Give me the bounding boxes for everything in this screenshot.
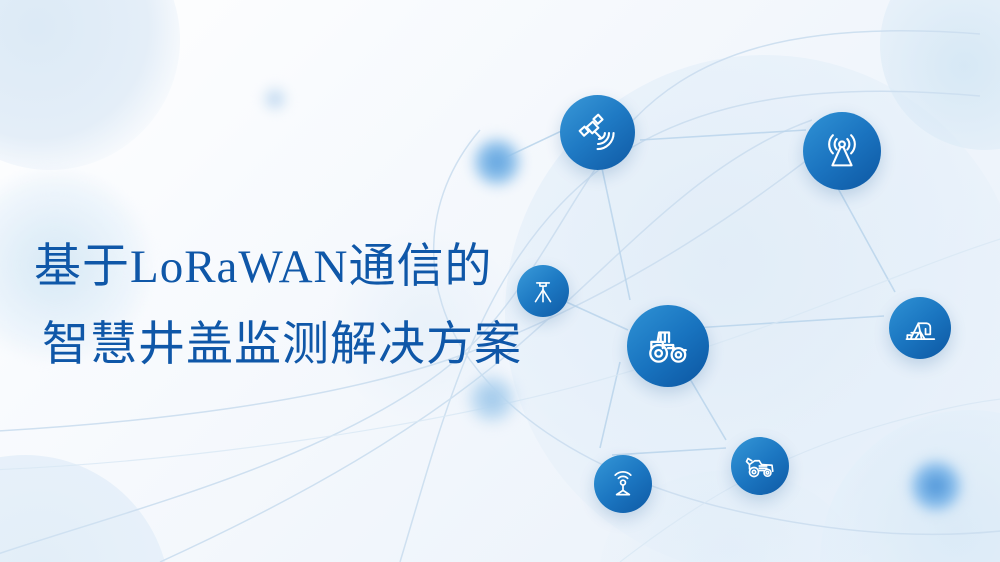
node-pumpjack[interactable] — [889, 297, 951, 359]
node-beacon[interactable] — [594, 455, 652, 513]
wireless-sensor-icon — [606, 467, 640, 501]
title-block: 基于LoRaWAN通信的 智慧井盖监测解决方案 — [34, 228, 554, 384]
oil-pumpjack-icon — [901, 309, 939, 347]
node-antenna[interactable] — [803, 112, 881, 190]
satellite-icon — [576, 111, 620, 155]
node-satellite[interactable] — [560, 95, 635, 170]
harvester-icon — [742, 448, 778, 484]
tractor-icon — [643, 321, 693, 371]
node-tractor[interactable] — [627, 305, 709, 387]
title-line-1: 基于LoRaWAN通信的 — [34, 228, 554, 306]
radio-tower-icon — [819, 128, 865, 174]
slide-canvas: 基于LoRaWAN通信的 智慧井盖监测解决方案 — [0, 0, 1000, 562]
title-line-2: 智慧井盖监测解决方案 — [34, 306, 554, 384]
node-harvester[interactable] — [731, 437, 789, 495]
